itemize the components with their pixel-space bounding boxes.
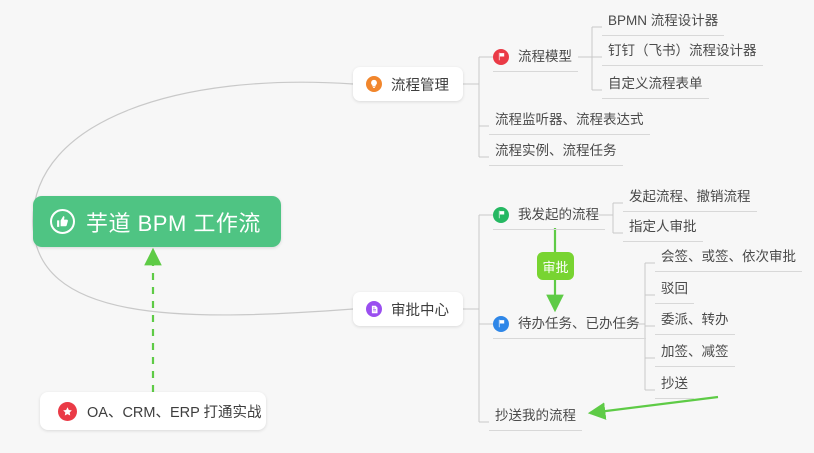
topic-label-countersign: 会签、或签、依次审批 bbox=[661, 249, 796, 264]
topic-cc[interactable]: 抄送 bbox=[655, 374, 694, 399]
oa-integration-card[interactable]: OA、CRM、ERP 打通实战 bbox=[40, 392, 266, 430]
topic-my-initiated-process[interactable]: 我发起的流程 bbox=[493, 205, 605, 230]
topic-designated-approver[interactable]: 指定人审批 bbox=[623, 217, 703, 242]
topic-label-custom-process-form: 自定义流程表单 bbox=[608, 76, 703, 91]
topic-start-cancel-process[interactable]: 发起流程、撤销流程 bbox=[623, 187, 757, 212]
approve-badge[interactable]: 审批 bbox=[537, 252, 574, 280]
mindmap-canvas: 芋道 BPM 工作流 流程管理 审批中心 流程模型 流程监听器、流 bbox=[0, 0, 814, 453]
topic-process-listener-expression[interactable]: 流程监听器、流程表达式 bbox=[489, 110, 650, 135]
branch-node-approval-center[interactable]: 审批中心 bbox=[353, 292, 463, 326]
topic-label-my-initiated-process: 我发起的流程 bbox=[518, 205, 599, 224]
approve-badge-label: 审批 bbox=[542, 257, 568, 276]
topic-label-reject: 驳回 bbox=[661, 281, 688, 296]
document-icon bbox=[366, 301, 382, 317]
topic-delegate-transfer[interactable]: 委派、转办 bbox=[655, 310, 735, 335]
topic-process-instance-task[interactable]: 流程实例、流程任务 bbox=[489, 141, 623, 166]
topic-process-model[interactable]: 流程模型 bbox=[493, 47, 578, 72]
root-label: 芋道 BPM 工作流 bbox=[86, 206, 261, 238]
topic-cc-to-me-process[interactable]: 抄送我的流程 bbox=[489, 406, 582, 431]
topic-custom-process-form[interactable]: 自定义流程表单 bbox=[602, 74, 709, 99]
flag-icon bbox=[493, 207, 509, 223]
topic-label-designated-approver: 指定人审批 bbox=[629, 219, 697, 234]
topic-label-start-cancel-process: 发起流程、撤销流程 bbox=[629, 189, 751, 204]
topic-label-todo-done-tasks: 待办任务、已办任务 bbox=[518, 314, 640, 333]
topic-label-process-listener-expression: 流程监听器、流程表达式 bbox=[495, 112, 644, 127]
lightbulb-icon bbox=[366, 76, 382, 92]
topic-label-delegate-transfer: 委派、转办 bbox=[661, 312, 729, 327]
root-node[interactable]: 芋道 BPM 工作流 bbox=[33, 196, 281, 247]
topic-label-cc-to-me-process: 抄送我的流程 bbox=[495, 408, 576, 423]
flag-icon bbox=[493, 316, 509, 332]
thumbs-up-icon bbox=[50, 209, 75, 234]
topic-bpmn-designer[interactable]: BPMN 流程设计器 bbox=[602, 11, 724, 36]
flag-icon bbox=[493, 49, 509, 65]
star-icon bbox=[58, 402, 77, 421]
branch-node-process-mgmt[interactable]: 流程管理 bbox=[353, 67, 463, 101]
topic-dingtalk-feishu-designer[interactable]: 钉钉（飞书）流程设计器 bbox=[602, 41, 763, 66]
topic-label-process-model: 流程模型 bbox=[518, 47, 572, 66]
oa-integration-label: OA、CRM、ERP 打通实战 bbox=[87, 401, 262, 422]
branch-label-process-mgmt: 流程管理 bbox=[391, 74, 449, 95]
topic-countersign[interactable]: 会签、或签、依次审批 bbox=[655, 247, 802, 272]
topic-reject[interactable]: 驳回 bbox=[655, 279, 694, 304]
topic-label-process-instance-task: 流程实例、流程任务 bbox=[495, 143, 617, 158]
topic-todo-done-tasks[interactable]: 待办任务、已办任务 bbox=[493, 314, 646, 339]
arrow-cc-to-cc-to-me bbox=[590, 397, 718, 413]
topic-add-remove-sign[interactable]: 加签、减签 bbox=[655, 342, 735, 367]
topic-label-add-remove-sign: 加签、减签 bbox=[661, 344, 729, 359]
branch-label-approval-center: 审批中心 bbox=[391, 299, 449, 320]
topic-label-dingtalk-feishu-designer: 钉钉（飞书）流程设计器 bbox=[608, 43, 757, 58]
topic-label-bpmn-designer: BPMN 流程设计器 bbox=[608, 13, 718, 28]
topic-label-cc: 抄送 bbox=[661, 376, 688, 391]
